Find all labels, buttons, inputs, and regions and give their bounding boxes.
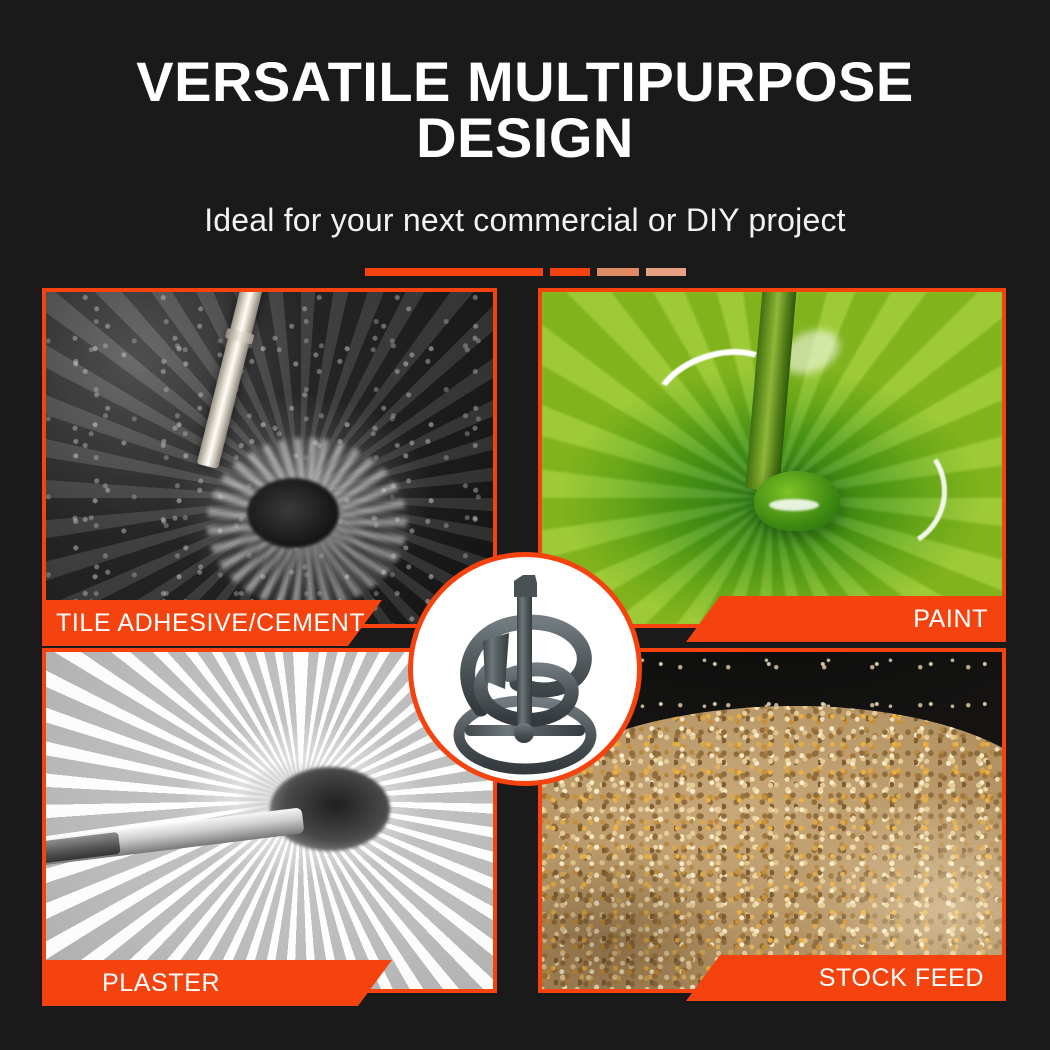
label-banner-plaster: PLASTER bbox=[42, 960, 392, 1006]
divider-segment-2 bbox=[550, 268, 590, 276]
paddle-hub bbox=[514, 723, 534, 743]
page-subtitle: Ideal for your next commercial or DIY pr… bbox=[0, 204, 1050, 236]
plaster-mixer-rod bbox=[46, 807, 305, 867]
label-text-paint: PAINT bbox=[913, 605, 988, 634]
divider-segment-1 bbox=[365, 268, 543, 276]
label-text-stock-feed: STOCK FEED bbox=[819, 964, 984, 993]
paddle-shaft-collar bbox=[514, 575, 537, 597]
decorative-divider bbox=[0, 268, 1050, 276]
cement-core bbox=[247, 478, 339, 548]
page-title: VERSATILE MULTIPURPOSE DESIGN bbox=[0, 54, 1050, 166]
paddle-vane bbox=[483, 633, 509, 689]
divider-segment-3 bbox=[597, 268, 639, 276]
paddle-shaft bbox=[517, 583, 532, 739]
center-product-badge bbox=[408, 552, 642, 786]
divider-segment-4 bbox=[646, 268, 686, 276]
product-feature-banner: VERSATILE MULTIPURPOSE DESIGN Ideal for … bbox=[0, 0, 1050, 1050]
label-text-tile-adhesive-cement: TILE ADHESIVE/CEMENT bbox=[56, 609, 365, 638]
label-banner-paint: PAINT bbox=[686, 596, 1006, 642]
cement-mixer-shaft bbox=[196, 292, 264, 468]
mixer-paddle-icon bbox=[413, 557, 637, 781]
label-banner-tile-adhesive-cement: TILE ADHESIVE/CEMENT bbox=[42, 600, 382, 646]
label-banner-stock-feed: STOCK FEED bbox=[686, 955, 1006, 1001]
label-text-plaster: PLASTER bbox=[102, 969, 220, 998]
header: VERSATILE MULTIPURPOSE DESIGN Ideal for … bbox=[0, 0, 1050, 276]
